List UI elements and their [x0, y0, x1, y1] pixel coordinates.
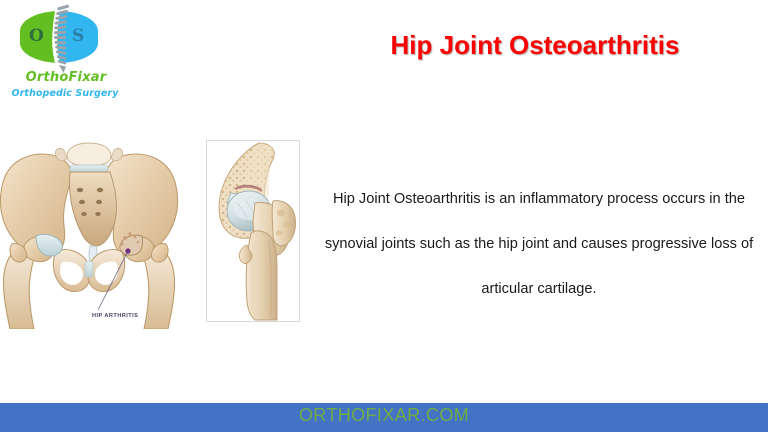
footer-website-label[interactable]: ORTHOFIXAR.COM	[0, 405, 768, 426]
brand-name: OrthoFixar	[14, 70, 118, 85]
brand-tagline: Orthopedic Surgery	[6, 88, 124, 99]
orthofixar-spine-leaf-logo-icon: O S	[20, 6, 98, 68]
pelvis-anatomy-illustration	[0, 134, 206, 329]
hip-arthritis-callout-label: HIP ARTHRITIS	[92, 313, 138, 319]
logo-letter-o: O	[29, 26, 44, 46]
page-title: Hip Joint Osteoarthritis	[310, 30, 760, 61]
brand-logo[interactable]: O S OrthoFixar Orthopedic Surgery	[6, 4, 126, 108]
description-text: Hip Joint Osteoarthritis is an inflammat…	[318, 177, 760, 312]
logo-letter-s: S	[72, 26, 84, 46]
hip-joint-crosssection-illustration	[206, 140, 300, 322]
